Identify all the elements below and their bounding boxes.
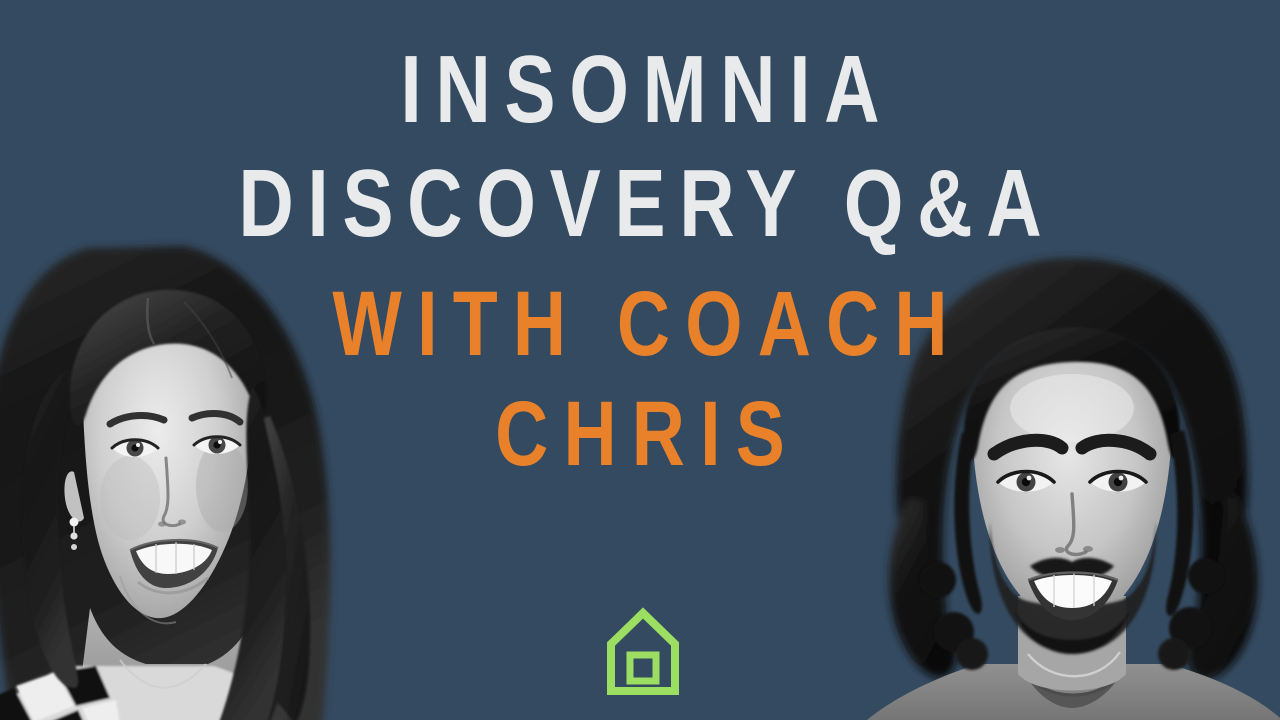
thumbnail-canvas: INSOMNIA DISCOVERY Q&A WITH COACH CHRIS — [0, 0, 1280, 720]
portrait-right — [846, 250, 1280, 720]
house-window-icon — [630, 655, 656, 681]
house-logo — [604, 604, 682, 698]
portrait-left — [0, 236, 410, 720]
